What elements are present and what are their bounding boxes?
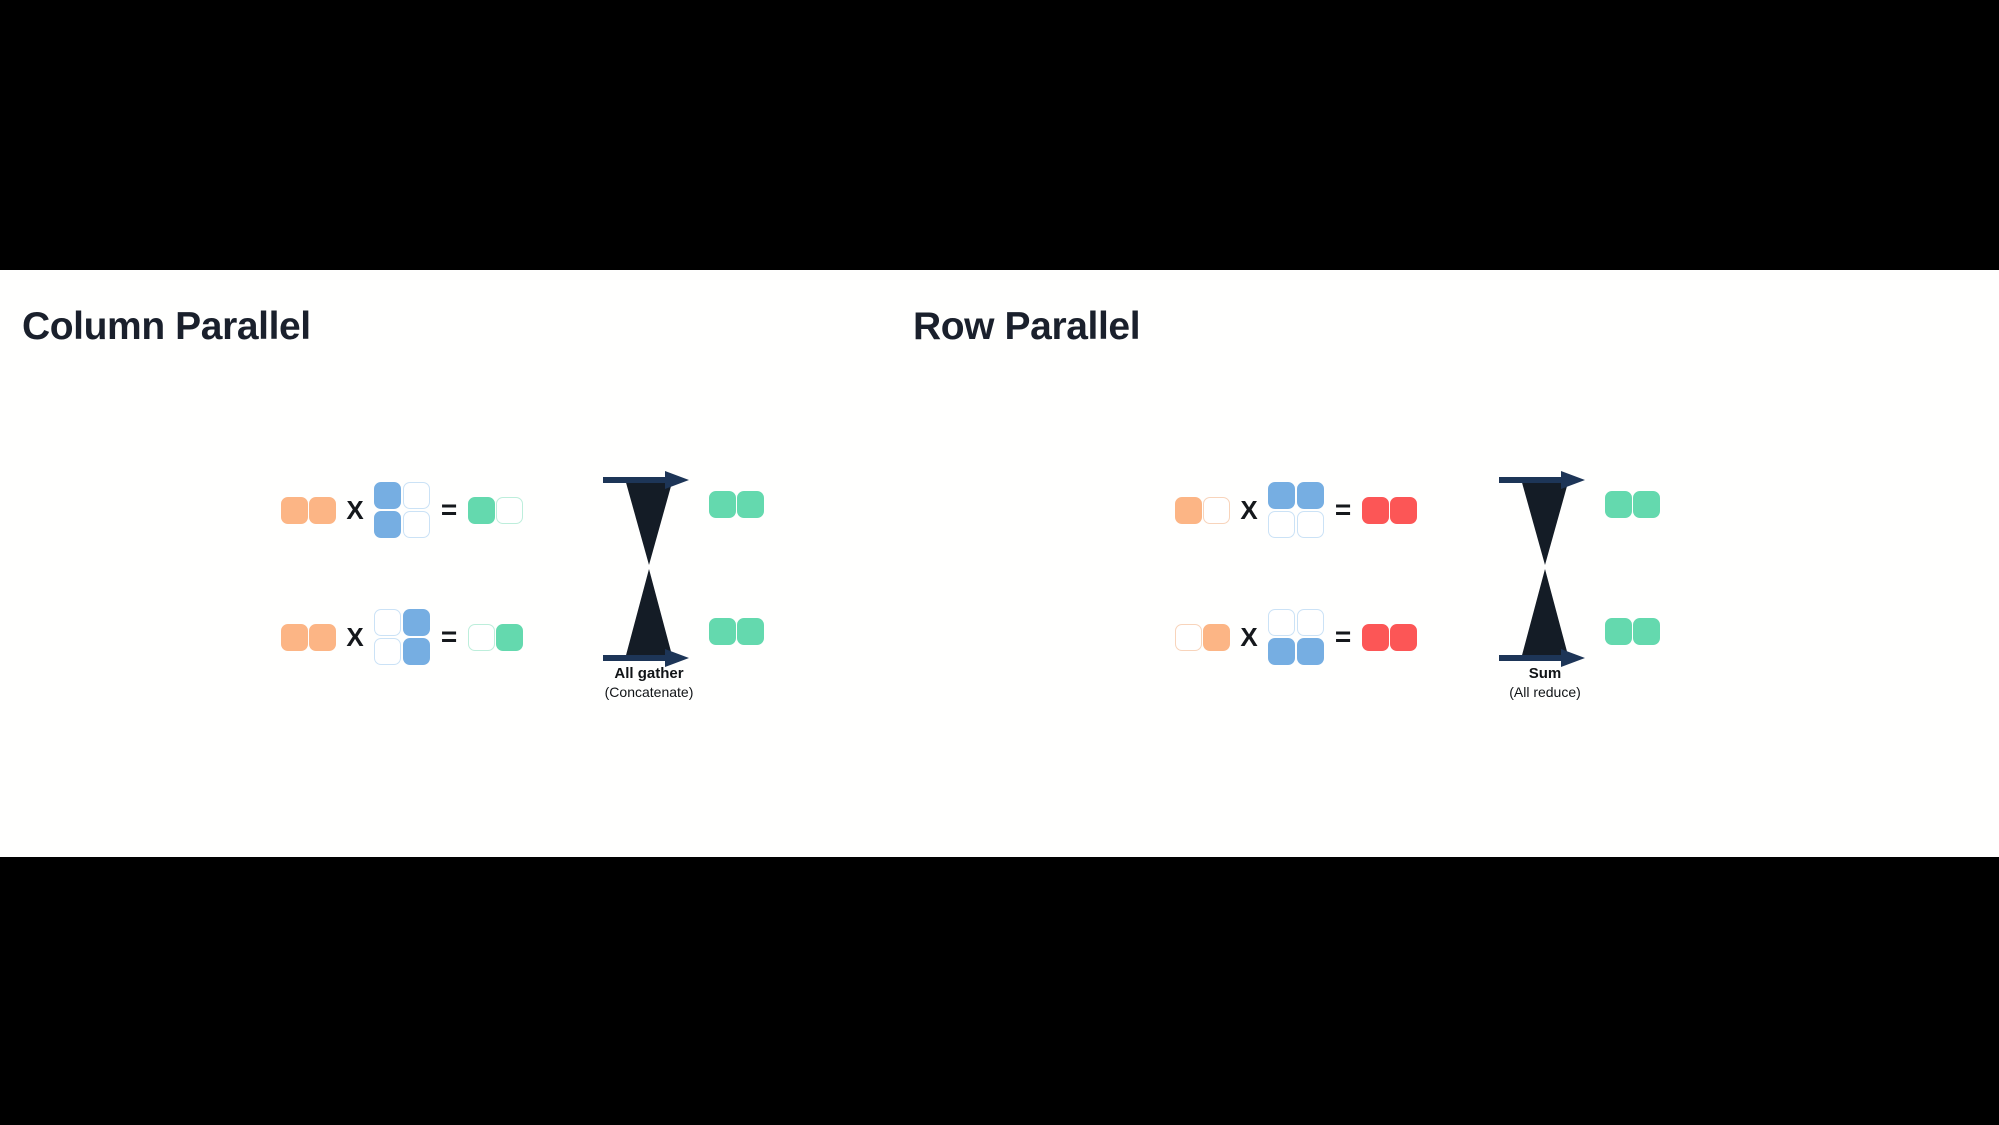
letterbox-top	[0, 0, 1999, 270]
collective-op-allreduce: Sum (All reduce)	[1499, 469, 1591, 669]
matrix-cell	[1203, 497, 1230, 524]
matrix-cell	[309, 497, 336, 524]
multiply-symbol: X	[1230, 497, 1268, 523]
matrix-cell	[1297, 482, 1324, 509]
matrix-cell	[1633, 618, 1660, 645]
matrix-cell	[403, 511, 430, 538]
matrix-cell	[737, 618, 764, 645]
equals-symbol: =	[1324, 496, 1362, 524]
bowtie-allreduce-icon	[1499, 469, 1591, 669]
matrix-cell	[1362, 497, 1389, 524]
multiply-symbol: X	[336, 624, 374, 650]
matrix-cell	[709, 491, 736, 518]
matrix-row	[1268, 638, 1324, 665]
result-vector	[468, 497, 523, 524]
matrix-cell	[1390, 624, 1417, 651]
output-vector	[1605, 491, 1660, 518]
matrix-cell	[281, 497, 308, 524]
equals-symbol: =	[430, 496, 468, 524]
result-vector	[468, 624, 523, 651]
weight-matrix	[374, 609, 430, 665]
matrix-cell	[496, 624, 523, 651]
matrix-cell	[1175, 624, 1202, 651]
matrix-row	[374, 482, 430, 509]
matrix-cell	[1268, 638, 1295, 665]
matrix-cell	[1633, 491, 1660, 518]
matrix-cell	[1605, 618, 1632, 645]
collective-op-name: Sum	[1445, 665, 1645, 684]
matrix-cell	[403, 482, 430, 509]
input-vector	[281, 497, 336, 524]
matrix-cell	[1297, 609, 1324, 636]
input-vector	[1175, 497, 1230, 524]
equation-row: X =	[281, 475, 523, 545]
output-vector	[709, 618, 764, 645]
collective-op-label: Sum (All reduce)	[1445, 665, 1645, 701]
matrix-cell	[468, 624, 495, 651]
matrix-row	[1268, 609, 1324, 636]
matrix-row	[374, 638, 430, 665]
page-title-column-parallel: Column Parallel	[22, 305, 311, 349]
matrix-cell	[1297, 638, 1324, 665]
diagram-stage: Column Parallel X =	[0, 270, 1999, 857]
matrix-row	[374, 609, 430, 636]
matrix-cell	[309, 624, 336, 651]
input-vector	[1175, 624, 1230, 651]
matrix-cell	[1605, 491, 1632, 518]
equation-row: X =	[1175, 602, 1417, 672]
matrix-cell	[496, 497, 523, 524]
matrix-cell	[374, 609, 401, 636]
page-title-row-parallel: Row Parallel	[913, 305, 1140, 349]
matrix-cell	[374, 482, 401, 509]
matrix-cell	[374, 511, 401, 538]
matrix-cell	[403, 638, 430, 665]
output-vector	[1605, 618, 1660, 645]
multiply-symbol: X	[1230, 624, 1268, 650]
matrix-cell	[737, 491, 764, 518]
equation-row: X =	[281, 602, 523, 672]
matrix-cell	[1268, 511, 1295, 538]
collective-op-label: All gather (Concatenate)	[549, 665, 749, 701]
equals-symbol: =	[1324, 623, 1362, 651]
collective-op-detail: (All reduce)	[1445, 684, 1645, 702]
weight-matrix	[374, 482, 430, 538]
matrix-cell	[403, 609, 430, 636]
matrix-cell	[374, 638, 401, 665]
output-vector	[709, 491, 764, 518]
matrix-cell	[468, 497, 495, 524]
matrix-row	[1268, 482, 1324, 509]
matrix-cell	[1268, 609, 1295, 636]
matrix-cell	[709, 618, 736, 645]
matrix-cell	[1175, 497, 1202, 524]
collective-op-detail: (Concatenate)	[549, 684, 749, 702]
matrix-cell	[1203, 624, 1230, 651]
collective-op-name: All gather	[549, 665, 749, 684]
weight-matrix	[1268, 482, 1324, 538]
equation-row: X =	[1175, 475, 1417, 545]
collective-op-allgather: All gather (Concatenate)	[603, 469, 695, 669]
result-vector	[1362, 497, 1417, 524]
equals-symbol: =	[430, 623, 468, 651]
matrix-cell	[1390, 497, 1417, 524]
matrix-cell	[281, 624, 308, 651]
matrix-row	[1268, 511, 1324, 538]
matrix-row	[374, 511, 430, 538]
matrix-cell	[1362, 624, 1389, 651]
result-vector	[1362, 624, 1417, 651]
matrix-cell	[1268, 482, 1295, 509]
weight-matrix	[1268, 609, 1324, 665]
input-vector	[281, 624, 336, 651]
letterbox-bottom	[0, 857, 1999, 1125]
bowtie-allgather-icon	[603, 469, 695, 669]
multiply-symbol: X	[336, 497, 374, 523]
matrix-cell	[1297, 511, 1324, 538]
